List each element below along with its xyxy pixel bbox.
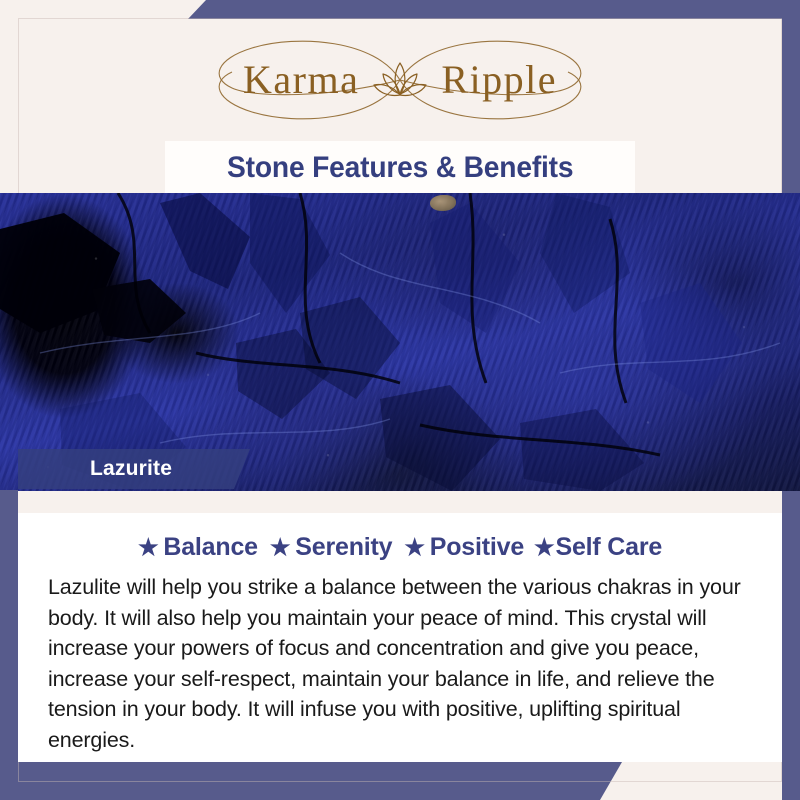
lazurite-stone-photo (0, 193, 800, 491)
pyrite-inclusion (430, 195, 456, 211)
navy-top-band-decoration (188, 0, 800, 19)
navy-bottom-band-decoration (0, 762, 622, 800)
lotus-icon (369, 57, 431, 103)
star-icon: ★ (534, 536, 554, 559)
benefit-label-2: Positive (430, 533, 524, 562)
benefit-label-0: Balance (163, 533, 258, 562)
brand-logo: Karma Ripple (180, 32, 620, 128)
content-card: ★ Balance ★ Serenity ★ Positive ★ Self C… (18, 513, 782, 762)
stone-name-label: Lazurite (18, 457, 172, 481)
brand-logo-row: Karma Ripple (243, 57, 557, 103)
benefit-item-0: ★ Balance (138, 533, 258, 562)
brand-name-left: Karma (243, 60, 359, 100)
stone-sparkle-texture (0, 193, 800, 491)
brand-name-right: Ripple (441, 60, 557, 100)
benefit-item-1: ★ Serenity (270, 533, 392, 562)
star-icon: ★ (404, 536, 424, 559)
stone-description: Lazulite will help you strike a balance … (42, 572, 758, 755)
star-icon: ★ (270, 536, 290, 559)
poster-root: Karma Ripple Stone Featur (0, 0, 800, 800)
stone-name-banner: Lazurite (18, 449, 250, 489)
page-title: Stone Features & Benefits (227, 151, 573, 185)
benefit-item-3: ★ Self Care (534, 533, 662, 562)
star-icon: ★ (138, 536, 158, 559)
brand-header: Karma Ripple (0, 19, 800, 141)
benefit-item-2: ★ Positive (404, 533, 524, 562)
benefit-label-1: Serenity (295, 533, 392, 562)
benefits-row: ★ Balance ★ Serenity ★ Positive ★ Self C… (42, 533, 758, 562)
title-plate: Stone Features & Benefits (165, 141, 635, 194)
cream-spacer (18, 491, 782, 513)
benefit-label-3: Self Care (555, 533, 662, 562)
navy-left-strip-decoration (0, 490, 18, 800)
